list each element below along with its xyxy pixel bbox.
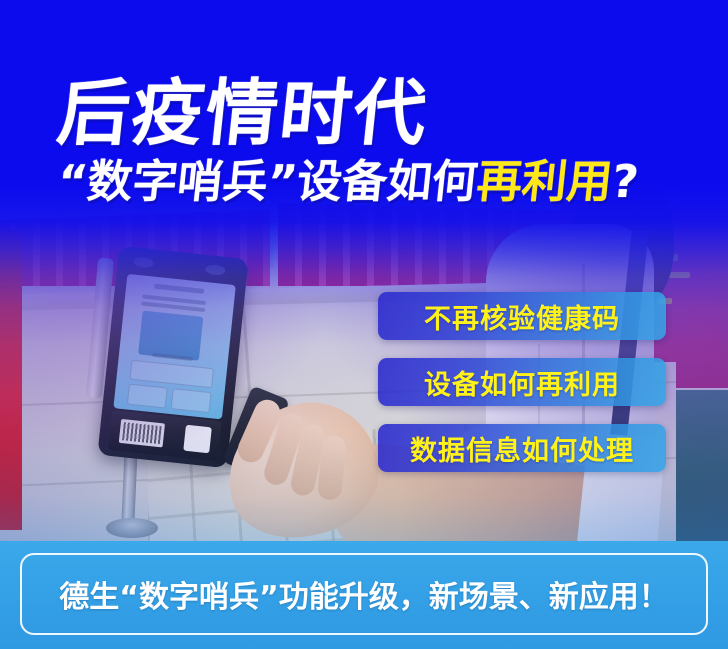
screen-button: [170, 388, 211, 412]
background-panel: [676, 390, 728, 541]
feature-pill-label: 设备如何再利用: [424, 363, 620, 402]
feature-pill-2[interactable]: 设备如何再利用: [378, 358, 666, 406]
poster-root: 后疫情时代 “数字哨兵”设备如何再利用? 不再核验健康码 设备如何再利用 数据信…: [0, 0, 728, 649]
feature-pill-3[interactable]: 数据信息如何处理: [378, 424, 666, 472]
screen-button: [129, 360, 213, 389]
banner-text: 德生“数字哨兵”功能升级，新场景、新应用！: [59, 572, 668, 616]
feature-pill-1[interactable]: 不再核验健康码: [378, 292, 666, 340]
feature-pill-label: 数据信息如何处理: [410, 429, 634, 468]
banner-border-frame: 德生“数字哨兵”功能升级，新场景、新应用！: [20, 553, 708, 635]
feature-pill-list: 不再核验健康码 设备如何再利用 数据信息如何处理: [378, 292, 668, 490]
kiosk-barcode-label: [119, 419, 165, 447]
red-edge-strip: [0, 230, 22, 530]
bottom-banner: 德生“数字哨兵”功能升级，新场景、新应用！: [0, 541, 728, 649]
feature-pill-label: 不再核验健康码: [424, 297, 620, 336]
kiosk-screen: [113, 274, 236, 420]
screen-health-code: [138, 311, 203, 361]
digital-sentry-kiosk: [97, 246, 248, 468]
screen-title-bar: [154, 283, 204, 293]
screen-button: [127, 384, 168, 408]
kiosk-code-reader: [183, 425, 212, 454]
kiosk-pole-base: [106, 518, 158, 538]
